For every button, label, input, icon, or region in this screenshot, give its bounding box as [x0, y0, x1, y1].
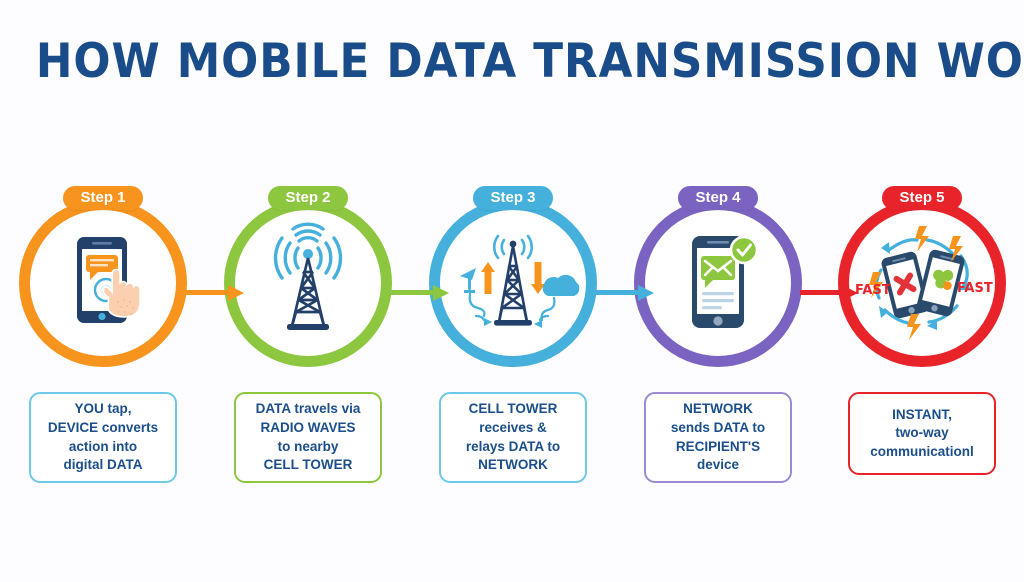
caption-line: communicationl	[870, 443, 974, 462]
step-2: Step 2	[224, 186, 392, 483]
step-1: Step 1	[19, 186, 187, 483]
fast-label-right: FAST	[957, 281, 993, 296]
caption-line: RADIO WAVES	[256, 419, 361, 438]
steps-row: Step 1	[0, 186, 1024, 486]
step-3-caption: CELL TOWER receives & relays DATA to NET…	[439, 392, 587, 483]
step-5: Step 5	[838, 186, 1006, 475]
caption-line: RECIPIENT'S	[671, 438, 765, 457]
arrow-step3-to-step4	[596, 282, 658, 304]
caption-line: digital DATA	[48, 456, 158, 475]
step-1-circle	[19, 199, 187, 367]
caption-line: receives &	[466, 419, 560, 438]
arrow-step1-to-step2	[186, 282, 248, 304]
caption-line: action into	[48, 438, 158, 457]
step-1-badge: Step 1	[63, 186, 142, 210]
page-title: HOW MOBILE DATA TRANSMISSION WORKS	[36, 34, 988, 89]
step-4-badge: Step 4	[678, 186, 757, 210]
two-way-fast-exchange-icon: FAST FAST	[849, 210, 995, 356]
caption-line: to nearby	[256, 438, 361, 457]
caption-line: NETWORK	[671, 400, 765, 419]
caption-line: NETWORK	[466, 456, 560, 475]
step-4-circle	[634, 199, 802, 367]
caption-line: two-way	[870, 424, 974, 443]
tower-relay-uplink-downlink-icon	[440, 210, 586, 356]
arrow-step4-to-step5	[800, 282, 862, 304]
caption-line: relays DATA to	[466, 438, 560, 457]
step-2-caption: DATA travels via RADIO WAVES to nearby C…	[234, 392, 382, 483]
caption-line: CELL TOWER	[466, 400, 560, 419]
infographic-canvas: HOW MOBILE DATA TRANSMISSION WORKS Step …	[0, 0, 1024, 582]
caption-line: DATA travels via	[256, 400, 361, 419]
step-2-badge: Step 2	[268, 186, 347, 210]
step-3-badge: Step 3	[473, 186, 552, 210]
caption-line: device	[671, 456, 765, 475]
step-3: Step 3	[429, 186, 597, 483]
step-4: Step 4	[634, 186, 802, 483]
step-4-caption: NETWORK sends DATA to RECIPIENT'S device	[644, 392, 792, 483]
caption-line: sends DATA to	[671, 419, 765, 438]
caption-line: INSTANT,	[870, 406, 974, 425]
step-3-circle	[429, 199, 597, 367]
step-2-circle	[224, 199, 392, 367]
radio-tower-waves-icon	[235, 210, 381, 356]
step-5-badge: Step 5	[882, 186, 961, 210]
arrow-step2-to-step3	[391, 282, 453, 304]
phone-message-delivered-icon	[645, 210, 791, 356]
caption-line: YOU tap,	[48, 400, 158, 419]
caption-line: CELL TOWER	[256, 456, 361, 475]
step-5-circle: FAST FAST	[838, 199, 1006, 367]
phone-tap-icon	[30, 210, 176, 356]
step-5-caption: INSTANT, two-way communicationl	[848, 392, 996, 475]
step-1-caption: YOU tap, DEVICE converts action into dig…	[29, 392, 177, 483]
caption-line: DEVICE converts	[48, 419, 158, 438]
